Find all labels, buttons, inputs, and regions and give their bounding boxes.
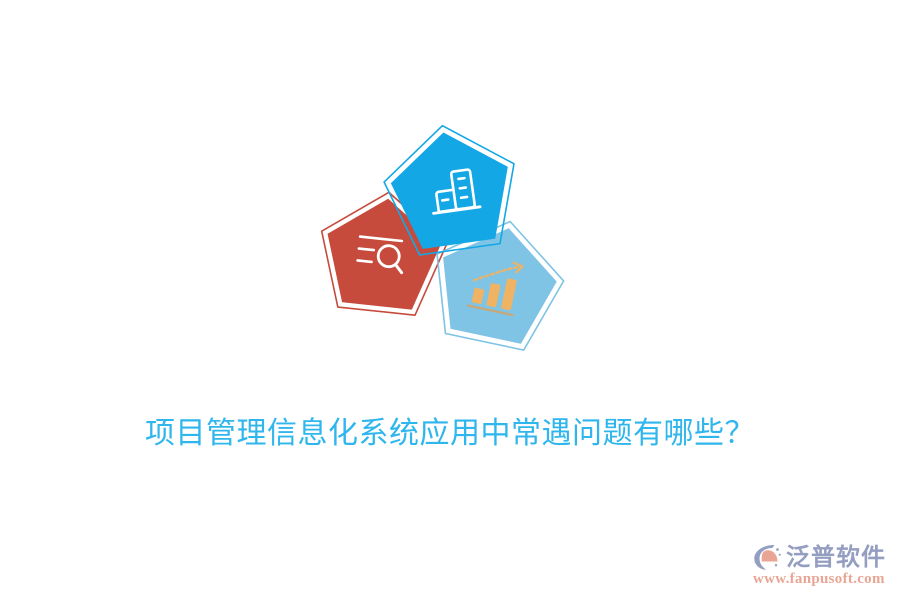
watermark-brand-text: 泛普软件 [786, 543, 886, 571]
watermark: 泛普软件 www.fanpusoft.com [752, 542, 886, 588]
page-canvas: 项目管理信息化系统应用中常遇问题有哪些？ 泛普软件 www.fanpusoft.… [0, 0, 900, 600]
pentagon-cluster-graphic [300, 110, 600, 375]
watermark-brand-row: 泛普软件 [752, 542, 886, 572]
page-title: 项目管理信息化系统应用中常遇问题有哪些？ [0, 412, 900, 456]
watermark-url-text: www.fanpusoft.com [752, 570, 885, 588]
fanpu-logo-icon [752, 542, 782, 572]
